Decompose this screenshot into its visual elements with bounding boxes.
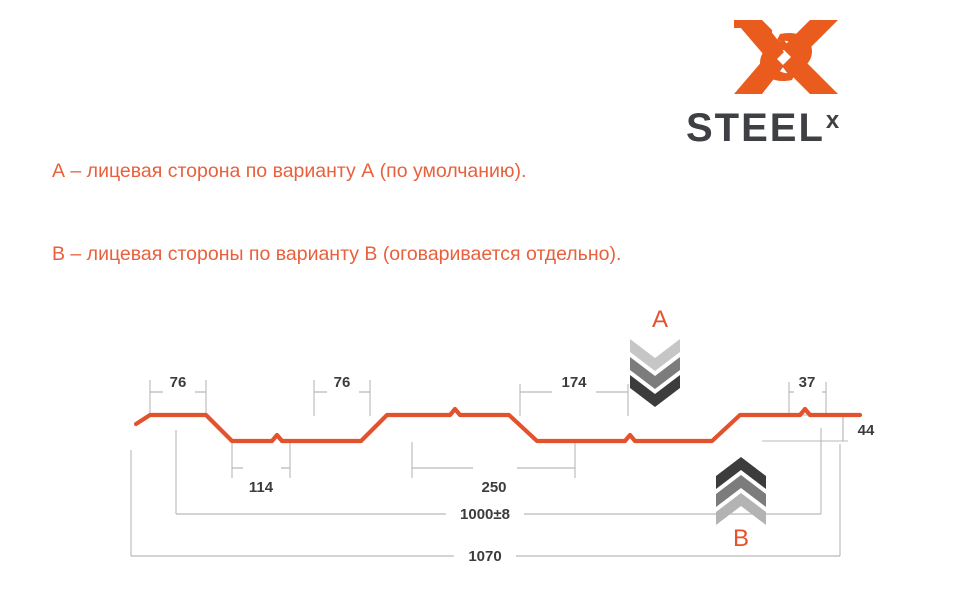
dimension-label-44: 44 <box>858 422 875 439</box>
marker-b-chevrons <box>716 457 766 525</box>
dimension-label-76-left: 76 <box>170 374 187 391</box>
dimension-label-37: 37 <box>799 374 816 391</box>
marker-a-letter: А <box>640 306 680 334</box>
dimension-label-1000: 1000±8 <box>460 506 510 523</box>
sheet-profile-outline <box>136 409 860 441</box>
marker-b-letter: В <box>721 525 761 553</box>
marker-a-chevrons <box>630 339 680 407</box>
profile-technical-drawing: 76 76 114 250 174 37 44 1000±8 1070 <box>0 0 970 597</box>
dimension-label-76-mid: 76 <box>334 374 351 391</box>
dimension-label-250: 250 <box>481 479 506 496</box>
dimension-label-1070: 1070 <box>468 548 501 565</box>
dimension-label-174: 174 <box>561 374 587 391</box>
dimension-label-114: 114 <box>249 479 274 496</box>
